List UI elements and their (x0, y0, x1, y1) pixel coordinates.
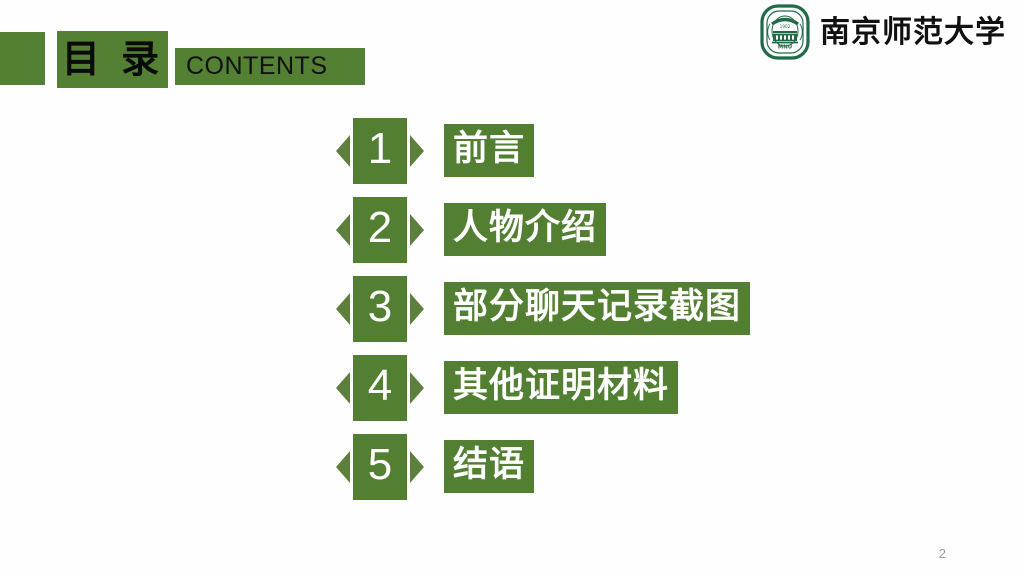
list-item[interactable]: 5 结语 (0, 434, 1024, 513)
chevron-right-icon (410, 214, 424, 246)
chevron-left-icon (336, 135, 350, 167)
item-label-box[interactable]: 部分聊天记录截图 (444, 282, 750, 335)
chevron-right-icon (410, 293, 424, 325)
slide-canvas: 目 录 CONTENTS 1902 MNU (0, 0, 1024, 576)
list-item[interactable]: 2 人物介绍 (0, 197, 1024, 276)
item-number: 1 (368, 127, 392, 171)
header-subtitle-box: CONTENTS (175, 48, 365, 85)
item-number: 4 (368, 364, 392, 408)
svg-text:1902: 1902 (780, 24, 791, 29)
item-label: 前言 (453, 132, 525, 167)
header-accent-square (0, 32, 45, 85)
item-number-group: 5 (336, 434, 424, 500)
item-label-box[interactable]: 结语 (444, 440, 534, 493)
list-item[interactable]: 3 部分聊天记录截图 (0, 276, 1024, 355)
page-number: 2 (939, 547, 946, 560)
item-number: 2 (368, 206, 392, 250)
university-logo: 1902 MNU 南京师范大学 (760, 4, 1006, 60)
item-label: 结语 (453, 448, 525, 483)
chevron-left-icon (336, 214, 350, 246)
page-title: 目 录 (62, 40, 163, 78)
item-number-group: 3 (336, 276, 424, 342)
item-label: 人物介绍 (453, 211, 597, 246)
item-number-box: 3 (353, 276, 407, 342)
item-label-box[interactable]: 前言 (444, 124, 534, 177)
chevron-left-icon (336, 451, 350, 483)
item-number: 3 (368, 285, 392, 329)
item-number-group: 4 (336, 355, 424, 421)
list-item[interactable]: 4 其他证明材料 (0, 355, 1024, 434)
chevron-right-icon (410, 135, 424, 167)
item-label: 部分聊天记录截图 (453, 290, 741, 325)
chevron-left-icon (336, 293, 350, 325)
item-number-box: 1 (353, 118, 407, 184)
item-number-box: 4 (353, 355, 407, 421)
list-item[interactable]: 1 前言 (0, 118, 1024, 197)
svg-text:MNU: MNU (778, 45, 792, 51)
item-number-group: 2 (336, 197, 424, 263)
chevron-left-icon (336, 372, 350, 404)
university-seal-icon: 1902 MNU (760, 4, 810, 60)
item-label-box[interactable]: 人物介绍 (444, 203, 606, 256)
chevron-right-icon (410, 451, 424, 483)
page-subtitle: CONTENTS (175, 54, 328, 79)
university-name: 南京师范大学 (820, 18, 1006, 48)
item-number-box: 5 (353, 434, 407, 500)
item-number-box: 2 (353, 197, 407, 263)
item-label: 其他证明材料 (453, 369, 669, 404)
item-number-group: 1 (336, 118, 424, 184)
chevron-right-icon (410, 372, 424, 404)
contents-list: 1 前言 2 人物介绍 3 (0, 118, 1024, 513)
item-label-box[interactable]: 其他证明材料 (444, 361, 678, 414)
item-number: 5 (368, 443, 392, 487)
header-title-box: 目 录 (57, 31, 168, 88)
